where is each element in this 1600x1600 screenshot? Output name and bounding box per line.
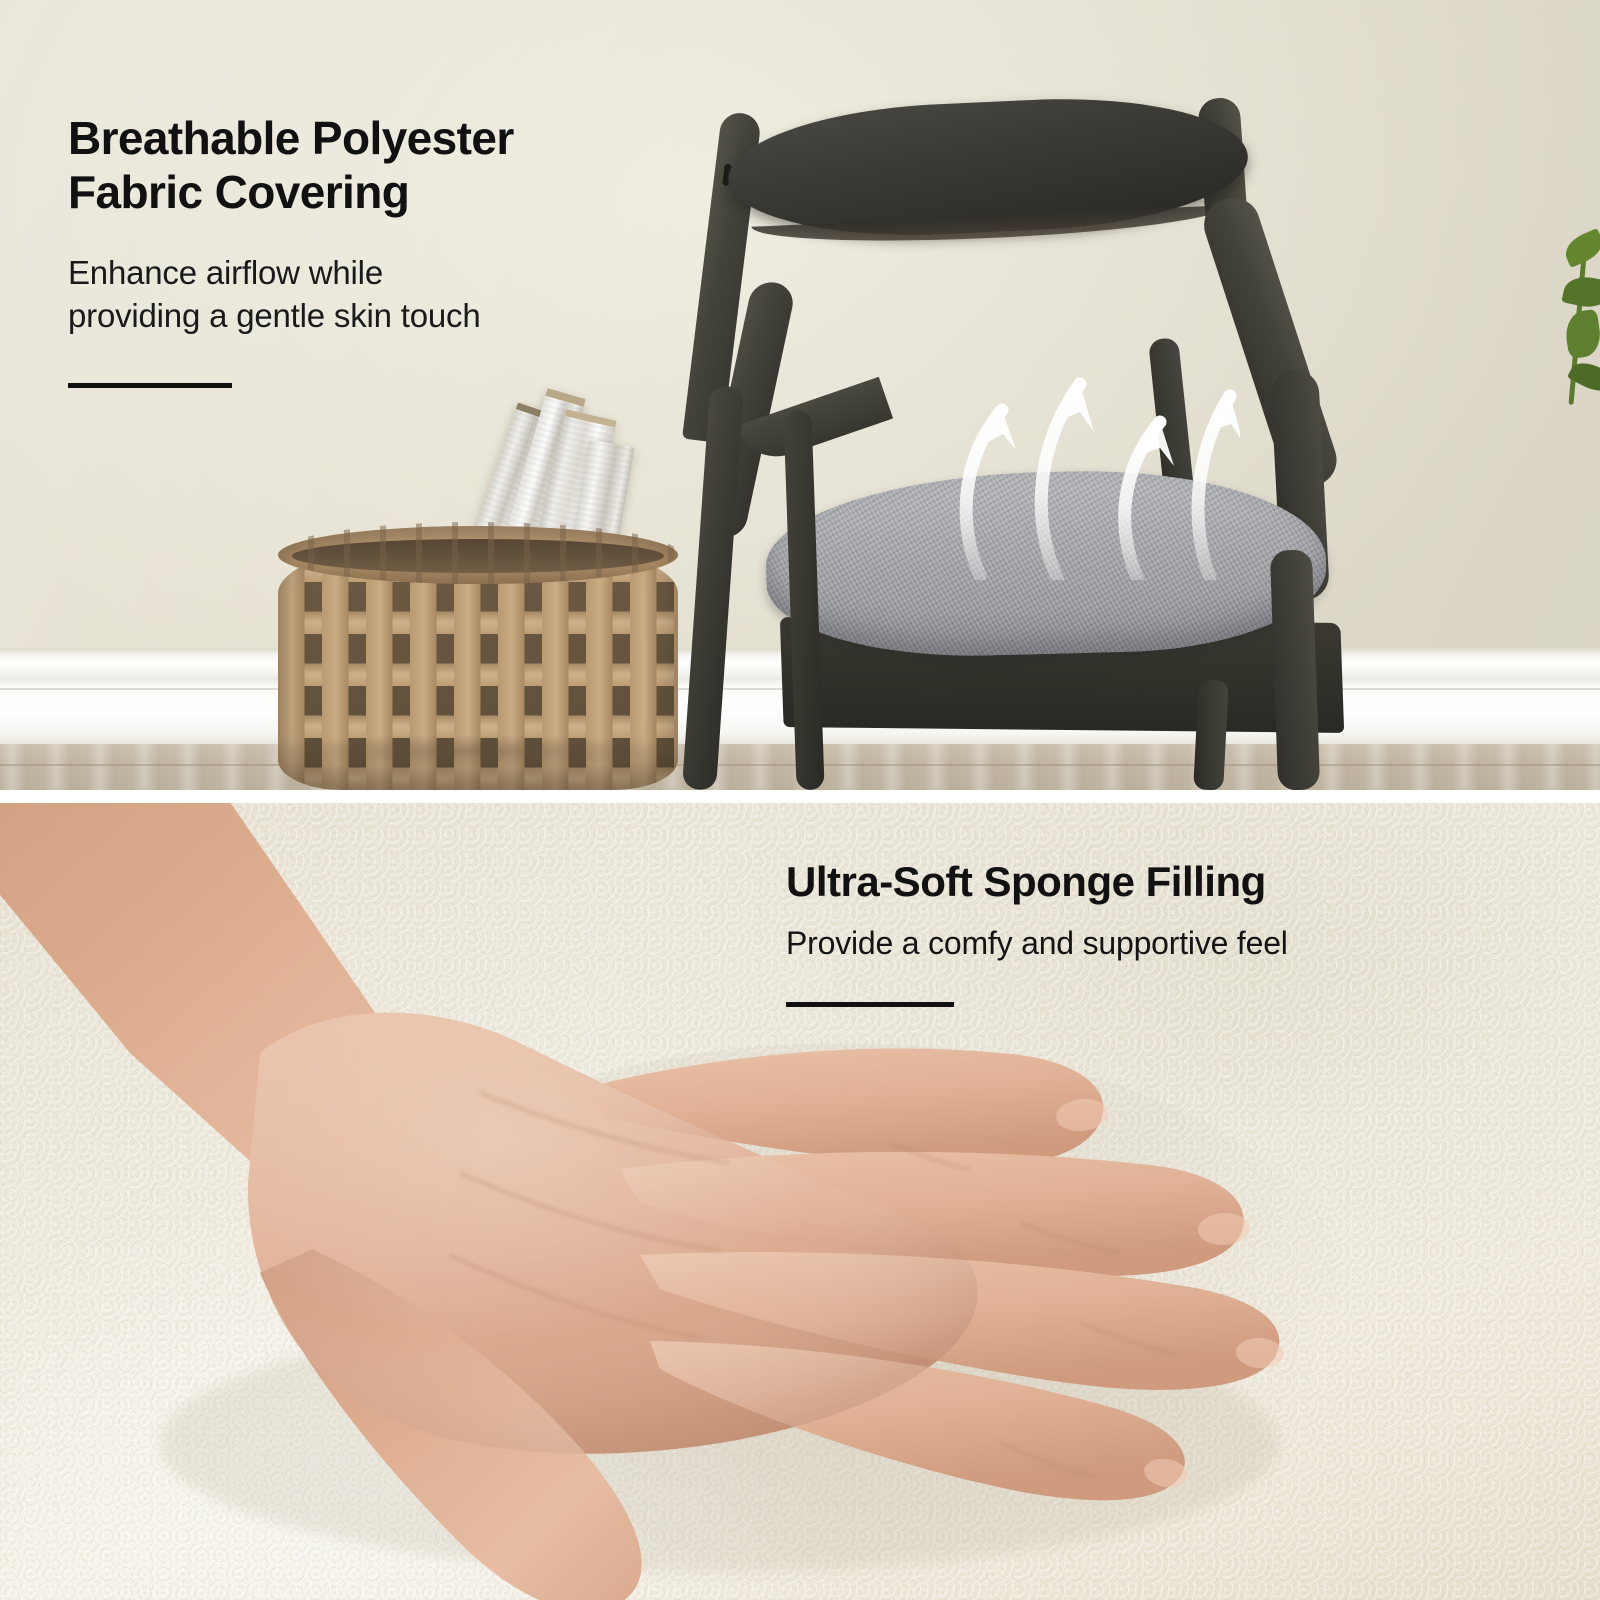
top-heading-line1: Breathable Polyester: [68, 112, 514, 164]
bottom-subheading: Provide a comfy and supportive feel: [786, 923, 1486, 964]
chair-backrest: [725, 90, 1250, 243]
chair-leg-front-left: [682, 385, 744, 790]
bottom-text-block: Ultra-Soft Sponge Filling Provide a comf…: [786, 858, 1486, 1007]
panel-divider: [0, 790, 1600, 803]
product-feature-poster: Breathable Polyester Fabric Covering Enh…: [0, 0, 1600, 1600]
plant-leaf-icon: [1526, 215, 1600, 455]
top-subheading-line1: Enhance airflow while: [68, 254, 383, 291]
top-text-block: Breathable Polyester Fabric Covering Enh…: [68, 112, 688, 388]
top-subheading: Enhance airflow while providing a gentle…: [68, 252, 688, 338]
plant-leaf: [1563, 309, 1600, 359]
panel-sponge-filling: Ultra-Soft Sponge Filling Provide a comf…: [0, 803, 1600, 1600]
chair-leg-front-right: [1270, 549, 1320, 790]
top-heading: Breathable Polyester Fabric Covering: [68, 112, 688, 220]
basket-rim-ticks: [278, 522, 678, 584]
plant-leaf: [1560, 228, 1600, 268]
bottom-heading: Ultra-Soft Sponge Filling: [786, 858, 1486, 905]
plant-leaf: [1561, 273, 1600, 312]
panel-breathable-fabric: Breathable Polyester Fabric Covering Enh…: [0, 0, 1600, 790]
top-heading-line2: Fabric Covering: [68, 166, 409, 218]
dining-chair: [640, 80, 1500, 790]
basket-floor-shadow: [258, 734, 688, 768]
chair-seat-cushion: [764, 465, 1329, 662]
chair-leg-back-right: [1193, 679, 1229, 790]
rattan-basket-with-magazines: [268, 382, 688, 790]
top-underline-rule: [68, 383, 232, 388]
bottom-underline-rule: [786, 1002, 954, 1007]
top-subheading-line2: providing a gentle skin touch: [68, 297, 480, 334]
